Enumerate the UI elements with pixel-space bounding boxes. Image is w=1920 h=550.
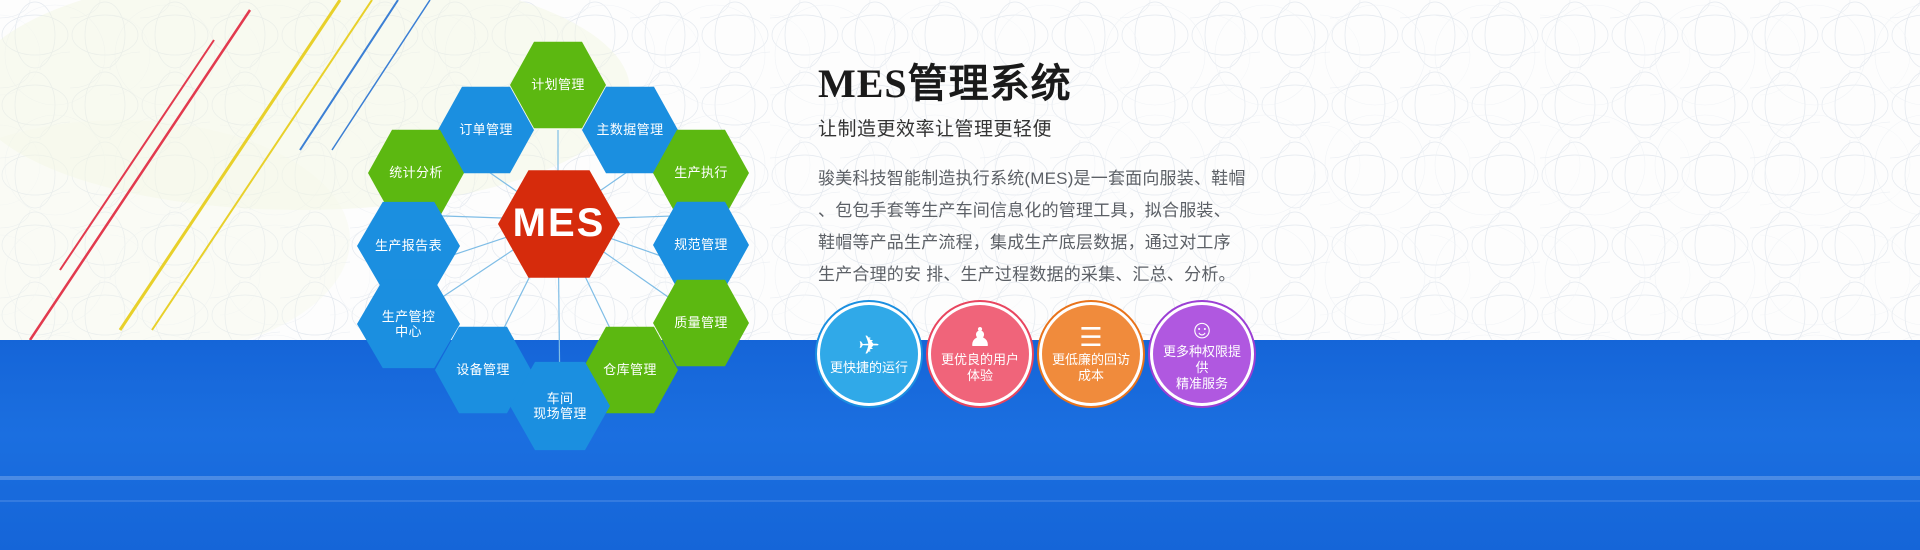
hex-node-label: 生产管控中心	[382, 309, 436, 340]
hex-node-label: 车间现场管理	[533, 391, 587, 422]
page-title: MES管理系统	[818, 62, 1288, 106]
hex-node-label: 生产执行	[674, 165, 728, 180]
badge-ring	[1148, 300, 1256, 408]
hex-center-label: MES	[513, 200, 606, 247]
background-band-1	[0, 476, 1920, 480]
hex-node-label: 计划管理	[531, 77, 585, 92]
hex-node-label: 规范管理	[674, 237, 728, 252]
mes-hex-diagram: 计划管理订单管理主数据管理统计分析生产执行生产报告表规范管理生产管控中心质量管理…	[330, 20, 800, 440]
badge-ring	[1037, 300, 1145, 408]
banner-text-block: MES管理系统 让制造更效率让管理更轻便 骏美科技智能制造执行系统(MES)是一…	[818, 62, 1288, 291]
hex-node-label: 订单管理	[459, 122, 513, 137]
paragraph-line-1: 、包包手套等生产车间信息化的管理工具，拟合服装、	[818, 195, 1288, 227]
feature-badge-1[interactable]: ♟更优良的用户体验	[931, 305, 1029, 403]
page-subtitle: 让制造更效率让管理更轻便	[818, 114, 1288, 141]
banner-stage: 计划管理订单管理主数据管理统计分析生产执行生产报告表规范管理生产管控中心质量管理…	[0, 0, 1920, 550]
hex-node-label: 主数据管理	[596, 122, 663, 137]
paragraph-line-2: 鞋帽等产品生产流程，集成生产底层数据，通过对工序	[818, 227, 1288, 259]
paragraph-line-3: 生产合理的安 排、生产过程数据的采集、汇总、分析。	[818, 259, 1288, 291]
hex-node-label: 设备管理	[456, 362, 510, 377]
description-paragraph: 骏美科技智能制造执行系统(MES)是一套面向服装、鞋帽、包包手套等生产车间信息化…	[818, 163, 1288, 291]
paragraph-line-0: 骏美科技智能制造执行系统(MES)是一套面向服装、鞋帽	[818, 163, 1288, 195]
feature-badge-3[interactable]: ☺更多种权限提供精准服务	[1153, 305, 1251, 403]
feature-badge-2[interactable]: ☰更低廉的回访成本	[1042, 305, 1140, 403]
hex-node-label: 质量管理	[674, 315, 728, 330]
background-band-2	[0, 500, 1920, 502]
hex-node-label: 生产报告表	[375, 238, 442, 253]
badge-ring	[815, 300, 923, 408]
hex-node-label: 仓库管理	[603, 362, 657, 377]
feature-badge-0[interactable]: ✈更快捷的运行	[820, 305, 918, 403]
hex-node-label: 统计分析	[389, 165, 443, 180]
feature-badge-row: ✈更快捷的运行♟更优良的用户体验☰更低廉的回访成本☺更多种权限提供精准服务	[820, 305, 1251, 403]
badge-ring	[926, 300, 1034, 408]
